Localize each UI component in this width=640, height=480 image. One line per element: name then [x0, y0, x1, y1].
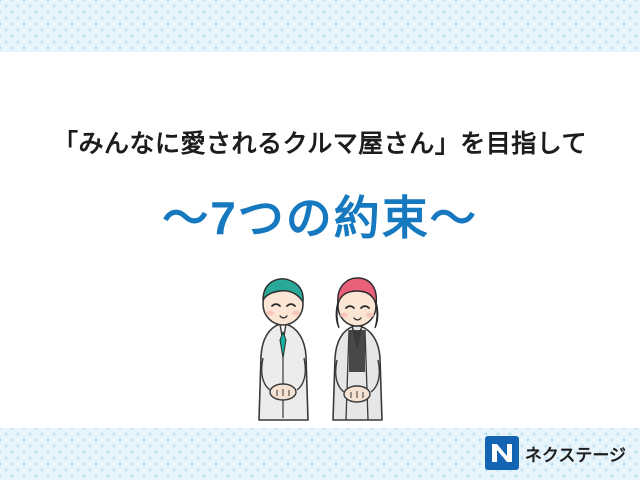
two-bowing-staff-illustration	[236, 272, 412, 424]
female-staff-figure	[333, 278, 382, 420]
nextage-n-logo-icon	[485, 436, 519, 470]
male-staff-figure	[259, 279, 308, 420]
headline-secondary: 〜7つの約束〜	[0, 182, 640, 248]
headline-primary: 「みんなに愛されるクルマ屋さん」を目指して	[0, 124, 640, 160]
top-dot-band	[0, 0, 640, 52]
slide-canvas: 「みんなに愛されるクルマ屋さん」を目指して 〜7つの約束〜	[0, 0, 640, 480]
brand-logo: ネクステージ	[485, 436, 626, 470]
brand-logo-text: ネクステージ	[525, 441, 626, 466]
